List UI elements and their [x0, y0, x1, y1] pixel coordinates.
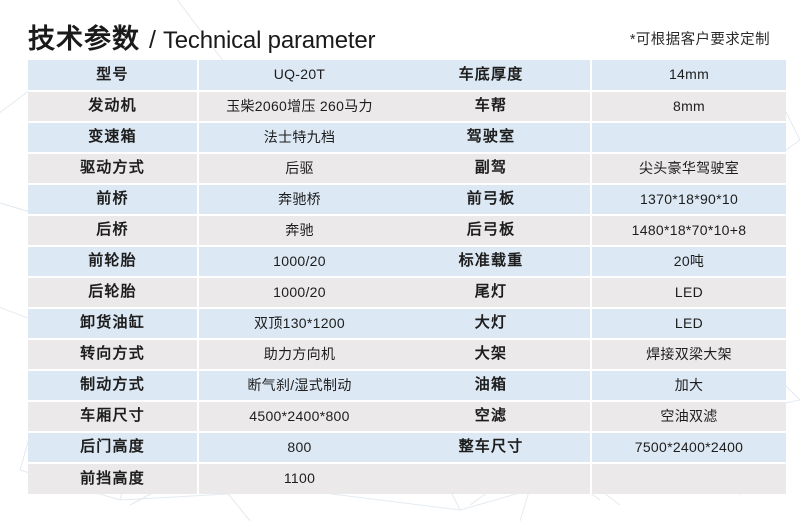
spec-value-cell: 空油双滤	[591, 401, 786, 432]
table-row: 车厢尺寸4500*2400*800	[28, 401, 400, 432]
spec-value-cell	[591, 122, 786, 153]
spec-value-cell: 加大	[591, 370, 786, 401]
table-row: 后轮胎1000/20	[28, 277, 400, 308]
spec-label-cell: 驾驶室	[392, 122, 591, 153]
spec-label-cell: 大灯	[392, 308, 591, 339]
table-row: 制动方式断气刹/湿式制动	[28, 370, 400, 401]
spec-value-cell: 尖头豪华驾驶室	[591, 153, 786, 184]
spec-label-cell: 后弓板	[392, 215, 591, 246]
table-row: 后弓板1480*18*70*10+8	[392, 215, 786, 246]
spec-value-cell: 助力方向机	[198, 339, 400, 370]
page-title: 技术参数 / Technical parameter	[28, 17, 375, 56]
spec-label-cell: 前桥	[28, 184, 198, 215]
spec-value-cell: 1000/20	[198, 277, 400, 308]
spec-table-left-body: 型号UQ-20T发动机玉柴2060增压 260马力变速箱法士特九档驱动方式后驱前…	[28, 60, 400, 494]
spec-value-cell: 奔驰桥	[198, 184, 400, 215]
table-row: 驱动方式后驱	[28, 153, 400, 184]
table-row: 发动机玉柴2060增压 260马力	[28, 91, 400, 122]
spec-value-cell: UQ-20T	[198, 60, 400, 91]
page-title-separator: /	[149, 26, 156, 55]
table-row: 大灯LED	[392, 308, 786, 339]
spec-value-cell: 1480*18*70*10+8	[591, 215, 786, 246]
table-row: 副驾尖头豪华驾驶室	[392, 153, 786, 184]
spec-label-cell: 油箱	[392, 370, 591, 401]
spec-label-cell: 驱动方式	[28, 153, 198, 184]
spec-value-cell: 焊接双梁大架	[591, 339, 786, 370]
page-title-chinese: 技术参数	[28, 17, 140, 56]
table-row	[392, 463, 786, 494]
spec-label-cell: 后门高度	[28, 432, 198, 463]
spec-value-cell: 4500*2400*800	[198, 401, 400, 432]
table-row: 尾灯LED	[392, 277, 786, 308]
spec-label-cell	[392, 463, 591, 494]
spec-value-cell: 14mm	[591, 60, 786, 91]
table-row: 整车尺寸7500*2400*2400	[392, 432, 786, 463]
table-row: 后门高度800	[28, 432, 400, 463]
spec-label-cell: 变速箱	[28, 122, 198, 153]
table-row: 前桥奔驰桥	[28, 184, 400, 215]
spec-label-cell: 前弓板	[392, 184, 591, 215]
spec-label-cell: 转向方式	[28, 339, 198, 370]
spec-label-cell: 车厢尺寸	[28, 401, 198, 432]
spec-sheet-page: 技术参数 / Technical parameter *可根据客户要求定制 型号…	[0, 0, 800, 521]
spec-label-cell: 型号	[28, 60, 198, 91]
spec-label-cell: 尾灯	[392, 277, 591, 308]
spec-value-cell: 20吨	[591, 246, 786, 277]
spec-label-cell: 卸货油缸	[28, 308, 198, 339]
spec-value-cell	[591, 463, 786, 494]
spec-label-cell: 空滤	[392, 401, 591, 432]
spec-value-cell: LED	[591, 308, 786, 339]
customization-note: *可根据客户要求定制	[630, 28, 770, 49]
spec-value-cell: 1370*18*90*10	[591, 184, 786, 215]
spec-label-cell: 发动机	[28, 91, 198, 122]
spec-value-cell: 1100	[198, 463, 400, 494]
spec-table-right-body: 车底厚度14mm车帮8mm驾驶室副驾尖头豪华驾驶室前弓板1370*18*90*1…	[392, 60, 786, 494]
spec-label-cell: 整车尺寸	[392, 432, 591, 463]
spec-label-cell: 大架	[392, 339, 591, 370]
table-row: 前弓板1370*18*90*10	[392, 184, 786, 215]
page-title-english: Technical parameter	[163, 27, 375, 55]
table-row: 油箱加大	[392, 370, 786, 401]
spec-value-cell: 1000/20	[198, 246, 400, 277]
spec-value-cell: LED	[591, 277, 786, 308]
spec-label-cell: 标准载重	[392, 246, 591, 277]
spec-table-left: 型号UQ-20T发动机玉柴2060增压 260马力变速箱法士特九档驱动方式后驱前…	[28, 60, 400, 494]
table-row: 车底厚度14mm	[392, 60, 786, 91]
spec-value-cell: 7500*2400*2400	[591, 432, 786, 463]
table-row: 前轮胎1000/20	[28, 246, 400, 277]
table-row: 大架焊接双梁大架	[392, 339, 786, 370]
table-row: 驾驶室	[392, 122, 786, 153]
table-row: 标准载重20吨	[392, 246, 786, 277]
spec-value-cell: 法士特九档	[198, 122, 400, 153]
table-row: 后桥奔驰	[28, 215, 400, 246]
table-row: 车帮8mm	[392, 91, 786, 122]
spec-table-right: 车底厚度14mm车帮8mm驾驶室副驾尖头豪华驾驶室前弓板1370*18*90*1…	[392, 60, 786, 494]
spec-value-cell: 8mm	[591, 91, 786, 122]
spec-label-cell: 车帮	[392, 91, 591, 122]
spec-value-cell: 玉柴2060增压 260马力	[198, 91, 400, 122]
spec-value-cell: 800	[198, 432, 400, 463]
spec-label-cell: 后轮胎	[28, 277, 198, 308]
spec-label-cell: 车底厚度	[392, 60, 591, 91]
spec-label-cell: 前轮胎	[28, 246, 198, 277]
table-row: 卸货油缸双顶130*1200	[28, 308, 400, 339]
table-row: 空滤空油双滤	[392, 401, 786, 432]
table-row: 变速箱法士特九档	[28, 122, 400, 153]
spec-label-cell: 制动方式	[28, 370, 198, 401]
table-row: 型号UQ-20T	[28, 60, 400, 91]
table-row: 前挡高度1100	[28, 463, 400, 494]
spec-label-cell: 后桥	[28, 215, 198, 246]
page-header: 技术参数 / Technical parameter *可根据客户要求定制	[0, 0, 800, 58]
table-row: 转向方式助力方向机	[28, 339, 400, 370]
spec-value-cell: 双顶130*1200	[198, 308, 400, 339]
spec-label-cell: 副驾	[392, 153, 591, 184]
spec-value-cell: 奔驰	[198, 215, 400, 246]
spec-value-cell: 后驱	[198, 153, 400, 184]
spec-label-cell: 前挡高度	[28, 463, 198, 494]
spec-value-cell: 断气刹/湿式制动	[198, 370, 400, 401]
